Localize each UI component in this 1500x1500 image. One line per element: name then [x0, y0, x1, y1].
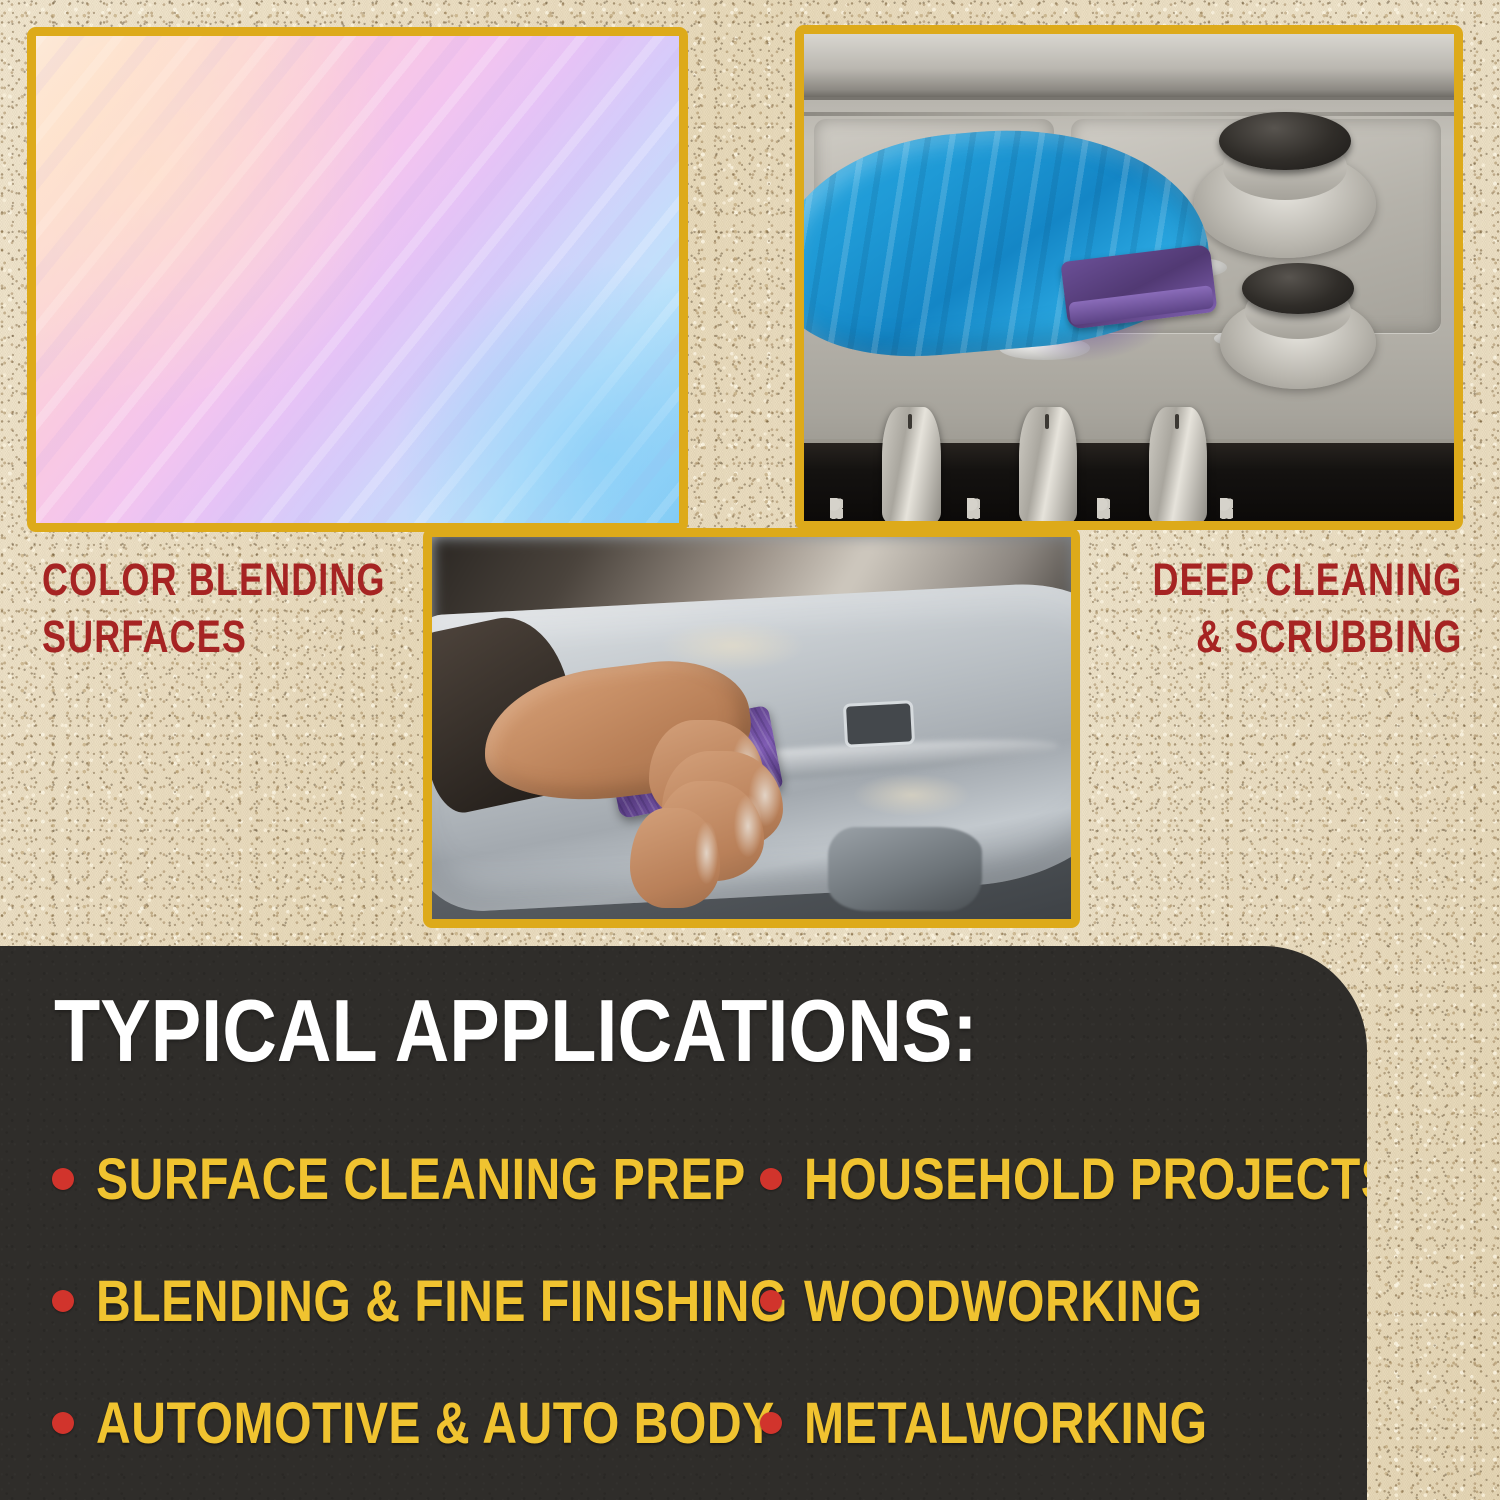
stove-burner-rear — [1194, 112, 1376, 258]
bullet-dot-icon — [52, 1290, 74, 1312]
bullet-dot-icon — [760, 1290, 782, 1312]
photo-color-blending-swatch — [27, 27, 688, 532]
stove-knob — [882, 407, 941, 524]
infographic-canvas: COLOR BLENDING SURFACES DEEP CLEANING & … — [0, 0, 1500, 1500]
stove-control-panel — [804, 439, 1454, 521]
burner-indicator-icon — [1220, 498, 1233, 518]
bullet-dot-icon — [760, 1168, 782, 1190]
caption-color-blending: COLOR BLENDING SURFACES — [42, 552, 386, 665]
list-item: WOODWORKING — [760, 1240, 1367, 1362]
stove-photo-body — [804, 34, 1454, 521]
list-item-label: WOODWORKING — [804, 1268, 1203, 1335]
photo-stove-cleaning — [795, 25, 1463, 530]
burner-cap — [1242, 263, 1354, 314]
finger — [630, 808, 719, 907]
typical-applications-panel: TYPICAL APPLICATIONS: SURFACE CLEANING P… — [0, 946, 1367, 1500]
panel-mounting-bracket — [828, 827, 981, 911]
list-item: HOUSEHOLD PROJECTS — [760, 1118, 1367, 1240]
gradient-photo-body — [36, 36, 679, 523]
auto-photo-body — [432, 537, 1071, 919]
list-item-label: BLENDING & FINE FINISHING — [96, 1268, 788, 1335]
list-item-label: HOUSEHOLD PROJECTS — [804, 1146, 1367, 1213]
list-item-label: AUTOMOTIVE & AUTO BODY — [96, 1390, 775, 1457]
stove-backsplash — [804, 34, 1454, 100]
bullet-dot-icon — [760, 1412, 782, 1434]
applications-column-left: SURFACE CLEANING PREP BLENDING & FINE FI… — [52, 1118, 742, 1484]
stove-knob — [1019, 407, 1078, 524]
caption-deep-cleaning: DEEP CLEANING & SCRUBBING — [1152, 552, 1462, 665]
stove-burner-front — [1220, 263, 1376, 390]
bullet-dot-icon — [52, 1168, 74, 1190]
list-item-label: METALWORKING — [804, 1390, 1208, 1457]
iridescent-glow — [36, 36, 679, 523]
burner-cap — [1219, 112, 1350, 170]
burner-indicator-icon — [830, 498, 843, 518]
panel-title: TYPICAL APPLICATIONS: — [54, 980, 978, 1082]
list-item-label: SURFACE CLEANING PREP — [96, 1146, 746, 1213]
list-item: AUTOMOTIVE & AUTO BODY — [52, 1362, 742, 1484]
list-item: METALWORKING — [760, 1362, 1367, 1484]
stove-knob — [1149, 407, 1208, 524]
bullet-dot-icon — [52, 1412, 74, 1434]
applications-column-right: HOUSEHOLD PROJECTS WOODWORKING METALWORK… — [760, 1118, 1367, 1484]
burner-indicator-icon — [1097, 498, 1110, 518]
panel-cutout-slot — [846, 703, 912, 744]
dust-patch — [854, 774, 969, 816]
list-item: BLENDING & FINE FINISHING — [52, 1240, 742, 1362]
burner-indicator-icon — [967, 498, 980, 518]
photo-auto-body-scuffing — [423, 528, 1080, 928]
list-item: SURFACE CLEANING PREP — [52, 1118, 742, 1240]
